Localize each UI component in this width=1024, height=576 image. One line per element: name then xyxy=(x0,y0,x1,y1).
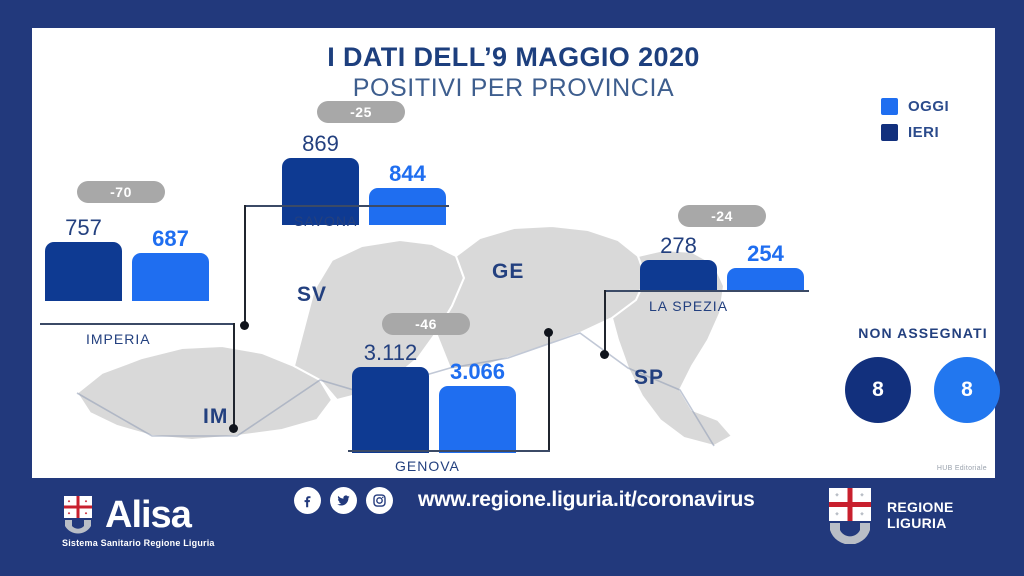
bar-imperia-yesterday: 757 xyxy=(45,216,122,301)
regione-liguria-logo: REGIONE LIGURIA xyxy=(826,486,954,544)
bar-value-genova-yesterday: 3.112 xyxy=(364,341,417,365)
alisa-shield-icon xyxy=(62,495,98,535)
regione-line1: REGIONE xyxy=(887,499,954,515)
instagram-icon[interactable] xyxy=(366,487,393,514)
infographic-card: I DATI DELL’9 MAGGIO 2020 POSITIVI PER P… xyxy=(32,28,995,478)
legend-swatch-ieri xyxy=(881,124,898,141)
bar-genova-today: 3.066 xyxy=(439,360,516,453)
bar-value-laspezia-today: 254 xyxy=(747,242,784,266)
leader-dot-imperia xyxy=(229,424,238,433)
province-name-genova: GENOVA xyxy=(395,458,460,474)
delta-badge-genova: -46 xyxy=(382,313,470,335)
leader-dot-laspezia xyxy=(600,350,609,359)
leader-dot-genova xyxy=(544,328,553,337)
baseline-genova xyxy=(348,450,550,452)
bar-value-savona-today: 844 xyxy=(389,162,426,186)
map-label-sp: SP xyxy=(634,366,664,390)
leader-line-laspezia xyxy=(604,290,606,353)
twitter-icon[interactable] xyxy=(330,487,357,514)
alisa-logo: Alisa xyxy=(62,495,191,535)
delta-badge-imperia: -70 xyxy=(77,181,165,203)
regione-shield-icon xyxy=(826,486,878,544)
bar-shape-laspezia-yesterday xyxy=(640,260,717,290)
bar-imperia-today: 687 xyxy=(132,227,209,301)
legend-item-ieri: IERI xyxy=(881,124,949,141)
bar-shape-laspezia-today xyxy=(727,268,804,290)
legend-label-ieri: IERI xyxy=(908,124,939,141)
baseline-savona xyxy=(244,205,449,207)
bar-value-laspezia-yesterday: 278 xyxy=(660,234,697,258)
alisa-wordmark: Alisa xyxy=(105,496,191,534)
legend: OGGI IERI xyxy=(881,98,949,150)
bar-value-imperia-today: 687 xyxy=(152,227,189,251)
bar-value-savona-yesterday: 869 xyxy=(302,132,339,156)
bar-value-genova-today: 3.066 xyxy=(450,360,505,384)
map-label-sv: SV xyxy=(297,283,327,307)
bar-shape-imperia-today xyxy=(132,253,209,301)
alisa-subtitle: Sistema Sanitario Regione Liguria xyxy=(62,538,215,548)
regione-line2: LIGURIA xyxy=(887,515,947,531)
delta-badge-savona: -25 xyxy=(317,101,405,123)
bar-shape-genova-today xyxy=(439,386,516,453)
map-label-im: IM xyxy=(203,405,228,429)
regione-liguria-wordmark: REGIONE LIGURIA xyxy=(887,499,954,531)
legend-label-oggi: OGGI xyxy=(908,98,949,115)
leader-line-imperia xyxy=(233,323,235,427)
social-links xyxy=(294,487,393,514)
baseline-laspezia xyxy=(604,290,809,292)
footer: Alisa Sistema Sanitario Regione Liguria … xyxy=(0,478,1024,576)
baseline-imperia xyxy=(40,323,235,325)
unassigned-title: NON ASSEGNATI xyxy=(828,325,1018,341)
leader-line-savona xyxy=(244,205,246,324)
website-url[interactable]: www.regione.liguria.it/coronavirus xyxy=(418,488,755,512)
bar-laspezia-yesterday: 278 xyxy=(640,234,717,290)
leader-dot-savona xyxy=(240,321,249,330)
bar-savona-yesterday: 869 xyxy=(282,132,359,225)
province-name-laspezia: LA SPEZIA xyxy=(649,298,728,314)
bar-genova-yesterday: 3.112 xyxy=(352,341,429,453)
bar-savona-today: 844 xyxy=(369,162,446,225)
leader-line-genova xyxy=(548,332,550,450)
credit-text: HUB Editoriale xyxy=(937,465,987,472)
bar-shape-genova-yesterday xyxy=(352,367,429,453)
delta-badge-laspezia: -24 xyxy=(678,205,766,227)
legend-item-oggi: OGGI xyxy=(881,98,949,115)
bar-laspezia-today: 254 xyxy=(727,242,804,290)
legend-swatch-oggi xyxy=(881,98,898,115)
bar-shape-imperia-yesterday xyxy=(45,242,122,301)
province-name-imperia: IMPERIA xyxy=(86,331,151,347)
province-name-savona: SAVONA xyxy=(294,213,357,229)
unassigned-today: 8 xyxy=(934,357,1000,423)
map-label-ge: GE xyxy=(492,260,524,284)
facebook-icon[interactable] xyxy=(294,487,321,514)
unassigned-yesterday: 8 xyxy=(845,357,911,423)
bar-value-imperia-yesterday: 757 xyxy=(65,216,102,240)
